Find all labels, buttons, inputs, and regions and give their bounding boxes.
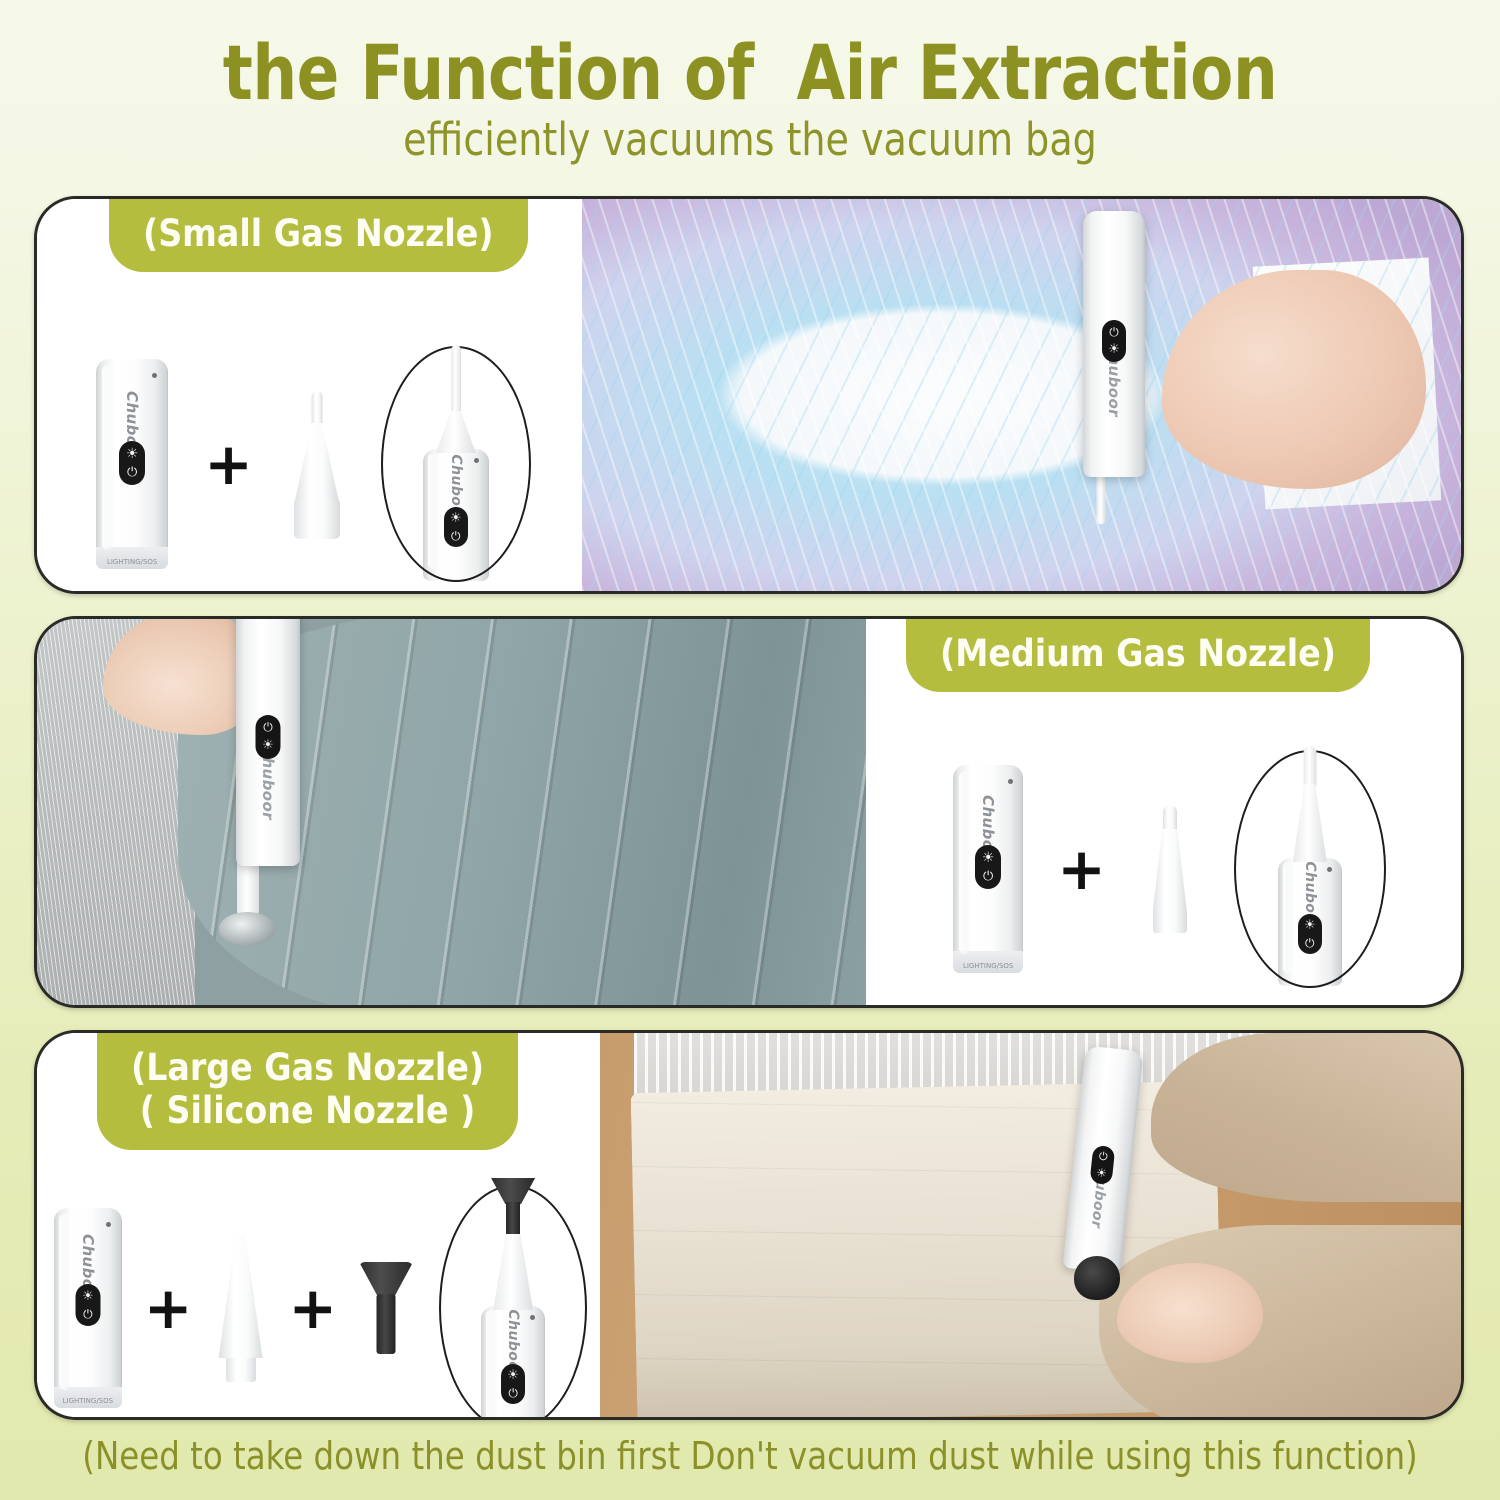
control-panel: ☀ ⏻ bbox=[119, 441, 145, 485]
power-icon: ⏻ bbox=[263, 721, 273, 733]
nozzle-taper bbox=[295, 421, 339, 501]
indicator-dot-icon bbox=[474, 457, 482, 465]
control-panel: ☀ ⏻ bbox=[975, 845, 1001, 889]
badge-large-gas-nozzle: (Large Gas Nozzle) ( Silicone Nozzle ) bbox=[97, 1033, 518, 1150]
photo-vacuum-bag-iridescent: Chuboor ⏻ ☀ bbox=[582, 199, 1461, 591]
attached-large-nozzle bbox=[493, 1234, 533, 1310]
control-panel: ☀ ⏻ bbox=[501, 1364, 525, 1404]
assembled-unit-medium: Chuboor ☀ ⏻ bbox=[1224, 744, 1396, 994]
power-icon: ⏻ bbox=[1098, 1151, 1108, 1163]
panel-medium-gas-nozzle: Chuboor ⏻ ☀ (Medium Gas Nozzle) Chuboor … bbox=[34, 616, 1464, 1008]
power-icon: ⏻ bbox=[983, 870, 993, 883]
light-icon: ☀ bbox=[982, 851, 995, 865]
photo-silicone-nozzle-in-use bbox=[1074, 1256, 1120, 1300]
attached-silicone-stem bbox=[506, 1202, 520, 1236]
page-subtitle: efficiently vacuums the vacuum bag bbox=[45, 116, 1455, 163]
assembly-diagram-large: Chuboor ☀ ⏻ LIGHTING/SOS + + bbox=[37, 1193, 600, 1420]
photo-quilt-in-bag: Chuboor ⏻ ☀ bbox=[600, 1033, 1461, 1417]
photo-medium-gas-nozzle: Chuboor ⏻ ☀ bbox=[37, 619, 866, 1005]
nozzle-tip bbox=[311, 391, 322, 423]
control-panel: ⏻ ☀ bbox=[255, 715, 280, 759]
device-body-assembled: Chuboor ☀ ⏻ bbox=[423, 449, 489, 581]
photo-grey-comforter-bag: Chuboor ⏻ ☀ bbox=[37, 619, 866, 1005]
device-body: Chuboor ☀ ⏻ LIGHTING/SOS bbox=[953, 765, 1023, 973]
footer-note: (Need to take down the dust bin first Do… bbox=[38, 1434, 1463, 1478]
indicator-dot-icon bbox=[530, 1314, 538, 1322]
nozzle-base bbox=[226, 1356, 256, 1382]
medium-gas-nozzle-part bbox=[1140, 805, 1200, 933]
indicator-dot-icon bbox=[106, 1220, 114, 1228]
badge-medium-gas-nozzle: (Medium Gas Nozzle) bbox=[906, 619, 1370, 692]
large-gas-nozzle-part bbox=[215, 1234, 267, 1382]
light-icon: ☀ bbox=[126, 447, 139, 461]
diagram-medium-gas-nozzle: (Medium Gas Nozzle) Chuboor ☀ ⏻ LIGHTING… bbox=[866, 619, 1461, 1005]
assembly-diagram-medium: Chuboor ☀ ⏻ LIGHTING/SOS + bbox=[866, 749, 1461, 989]
power-icon: ⏻ bbox=[1109, 326, 1119, 338]
plus-sign-1: + bbox=[144, 1288, 193, 1329]
control-panel: ☀ ⏻ bbox=[75, 1284, 100, 1326]
assembly-diagram-small: Chuboor ☀ ⏻ LIGHTING/SOS + bbox=[37, 349, 582, 579]
power-icon: ⏻ bbox=[508, 1387, 518, 1399]
silicone-bell bbox=[359, 1262, 413, 1296]
photo-small-gas-nozzle: Chuboor ⏻ ☀ bbox=[582, 199, 1461, 591]
assembled-unit-large: Chuboor ☀ ⏻ bbox=[429, 1178, 597, 1420]
light-icon: ☀ bbox=[1108, 343, 1120, 356]
indicator-dot-icon bbox=[1327, 866, 1335, 874]
device-body-assembled: Chuboor ☀ ⏻ bbox=[1278, 858, 1342, 986]
nozzle-tip-slot bbox=[1163, 805, 1177, 829]
panel-small-gas-nozzle: (Small Gas Nozzle) Chuboor ☀ ⏻ LIGHTING/… bbox=[34, 196, 1464, 594]
page-header: the Function of Air Extraction efficient… bbox=[0, 0, 1500, 163]
plus-sign-1: + bbox=[1057, 849, 1106, 890]
panel-large-gas-nozzle: (Large Gas Nozzle) ( Silicone Nozzle ) C… bbox=[34, 1030, 1464, 1420]
small-gas-nozzle-part bbox=[289, 389, 345, 539]
control-panel: ⏻ ☀ bbox=[1102, 320, 1126, 362]
power-icon: ⏻ bbox=[451, 530, 461, 542]
plus-sign-2: + bbox=[289, 1288, 338, 1329]
device-bottom-label: LIGHTING/SOS bbox=[963, 962, 1013, 970]
nozzle-base bbox=[1153, 909, 1187, 933]
power-icon: ⏻ bbox=[127, 466, 137, 479]
nozzle-cone bbox=[294, 499, 340, 539]
photo-device-in-use: Chuboor ⏻ ☀ bbox=[236, 619, 300, 866]
device-body-assembled: Chuboor ☀ ⏻ bbox=[481, 1306, 545, 1420]
silicone-nozzle-part bbox=[359, 1262, 413, 1354]
assembled-unit-small: Chuboor ☀ ⏻ bbox=[371, 339, 541, 589]
control-panel: ☀ ⏻ bbox=[444, 507, 468, 547]
indicator-dot-icon bbox=[152, 372, 160, 380]
light-icon: ☀ bbox=[1095, 1166, 1107, 1179]
indicator-dot-icon bbox=[1008, 777, 1016, 785]
control-panel: ☀ ⏻ bbox=[1298, 914, 1322, 954]
page-title: the Function of Air Extraction bbox=[60, 34, 1440, 112]
device-foot: LIGHTING/SOS bbox=[96, 547, 168, 569]
attached-nozzle-taper bbox=[436, 411, 476, 453]
attached-nozzle-tip bbox=[451, 345, 461, 415]
photo-large-gas-nozzle: Chuboor ⏻ ☀ bbox=[600, 1033, 1461, 1417]
nozzle-taper bbox=[1153, 823, 1187, 911]
badge-small-gas-nozzle: (Small Gas Nozzle) bbox=[109, 199, 528, 272]
device-body: Chuboor ☀ ⏻ LIGHTING/SOS bbox=[54, 1208, 122, 1408]
light-icon: ☀ bbox=[1304, 919, 1316, 932]
light-icon: ☀ bbox=[82, 1290, 94, 1303]
diagram-large-gas-nozzle: (Large Gas Nozzle) ( Silicone Nozzle ) C… bbox=[37, 1033, 600, 1417]
device-bottom-label: LIGHTING/SOS bbox=[63, 1397, 113, 1405]
diagram-small-gas-nozzle: (Small Gas Nozzle) Chuboor ☀ ⏻ LIGHTING/… bbox=[37, 199, 582, 591]
control-panel: ⏻ ☀ bbox=[1089, 1145, 1115, 1185]
light-icon: ☀ bbox=[450, 512, 462, 525]
power-icon: ⏻ bbox=[1305, 937, 1315, 949]
attached-silicone-bell bbox=[491, 1178, 535, 1204]
device-body: Chuboor ☀ ⏻ LIGHTING/SOS bbox=[96, 359, 168, 569]
nozzle-taper bbox=[219, 1234, 263, 1358]
attached-nozzle-taper bbox=[1293, 784, 1327, 862]
photo-sleeve-upper bbox=[1151, 1033, 1461, 1202]
power-icon: ⏻ bbox=[83, 1308, 93, 1320]
photo-device-in-use: Chuboor ⏻ ☀ bbox=[1083, 211, 1145, 478]
device-foot: LIGHTING/SOS bbox=[54, 1387, 122, 1408]
device-bottom-label: LIGHTING/SOS bbox=[107, 558, 157, 566]
plus-sign-1: + bbox=[204, 444, 253, 485]
device-foot: LIGHTING/SOS bbox=[953, 951, 1023, 973]
light-icon: ☀ bbox=[262, 739, 274, 752]
silicone-stem bbox=[377, 1294, 396, 1354]
attached-nozzle-tip bbox=[1303, 746, 1316, 786]
light-icon: ☀ bbox=[507, 1369, 519, 1382]
